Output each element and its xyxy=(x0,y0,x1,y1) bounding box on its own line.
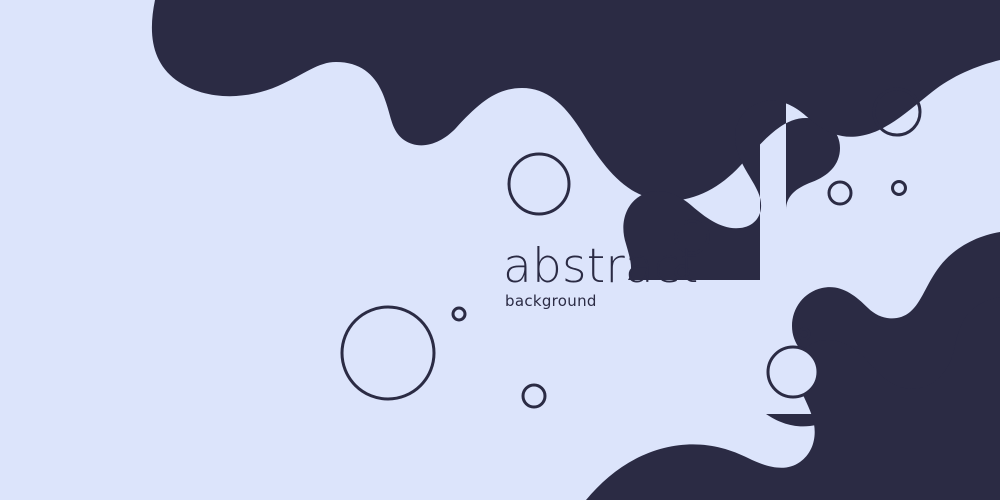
page-subtitle: background xyxy=(505,294,699,309)
page-title: abstract xyxy=(503,243,699,290)
headline-block: abstract background xyxy=(503,243,699,309)
abstract-background-poster: abstract background xyxy=(0,0,1000,500)
artwork-canvas xyxy=(0,0,1000,500)
